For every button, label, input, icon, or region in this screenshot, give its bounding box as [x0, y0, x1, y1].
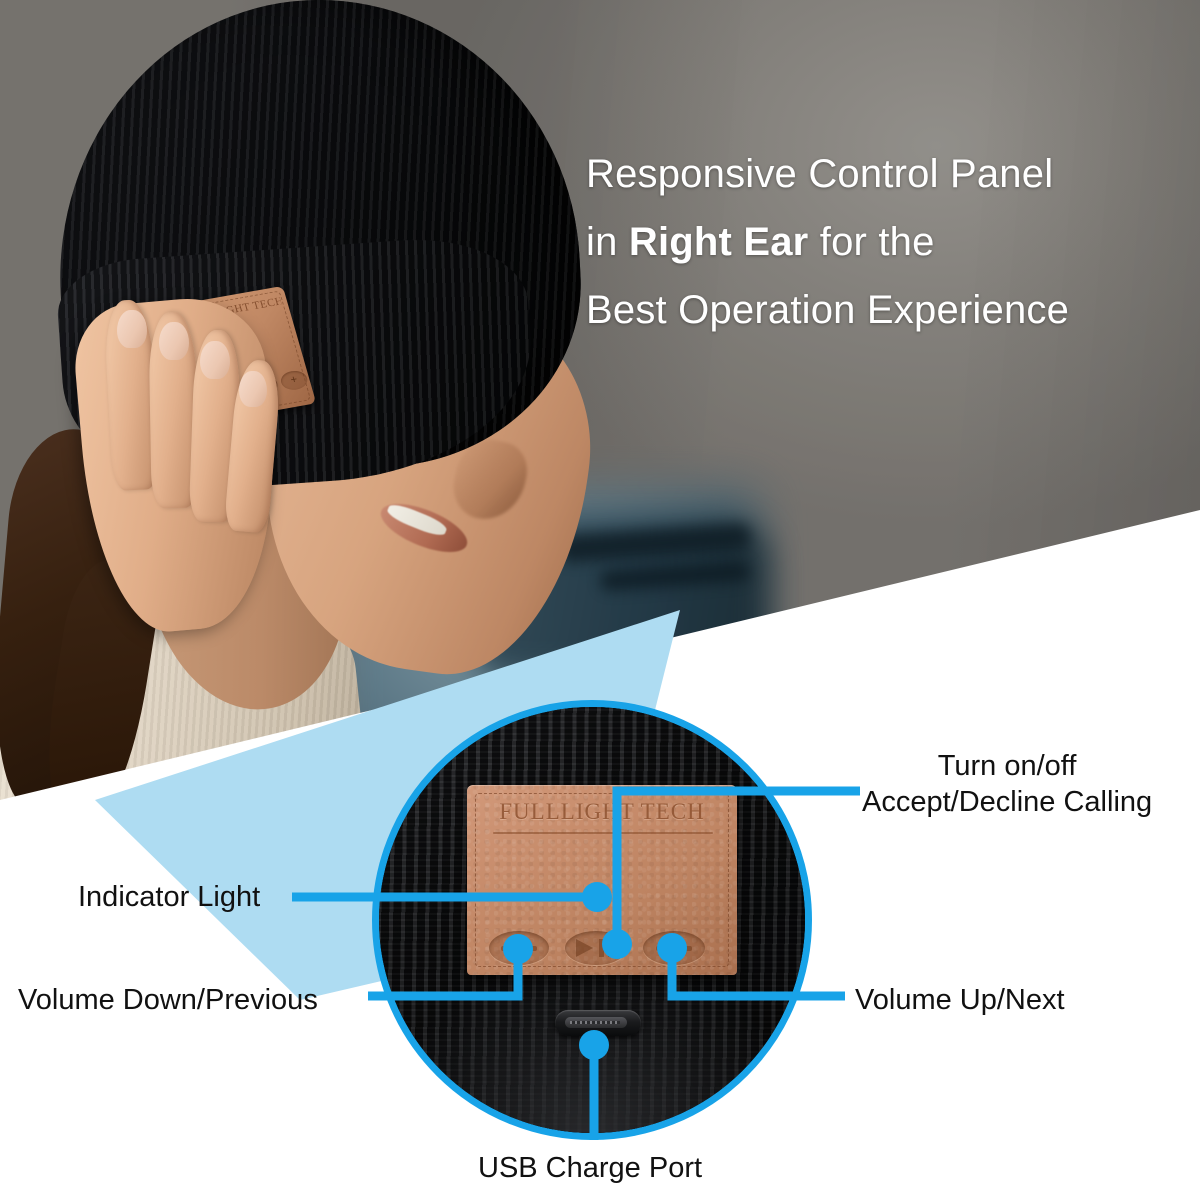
brand-logo-text: FULLLIGHT TECH: [467, 799, 737, 825]
led-indicator: [589, 891, 607, 909]
minus-icon: [501, 946, 537, 951]
headline-line-3: Best Operation Experience: [586, 276, 1186, 344]
headline-line-1: Responsive Control Panel: [586, 140, 1186, 208]
lifestyle-photo: FULLLIGHT TECH ▶ +: [0, 0, 1200, 810]
headline-line-2-pre: in: [586, 220, 629, 264]
model-fingernail: [159, 322, 189, 360]
callout-label-usb-charge-port: USB Charge Port: [478, 1150, 702, 1186]
zoom-circle-control-panel: FULLLIGHT TECH: [372, 700, 812, 1140]
callout-turn-on-off-line-1: Turn on/off: [862, 748, 1152, 784]
plus-button[interactable]: [643, 931, 705, 965]
model-fingernail: [117, 310, 147, 348]
callout-label-turn-on-off: Turn on/off Accept/Decline Calling: [862, 748, 1152, 820]
pause-icon: [599, 939, 604, 957]
play-icon: [576, 939, 593, 957]
pause-icon: [608, 939, 613, 957]
headline-emphasis: Right Ear: [629, 220, 809, 264]
usb-port-opening: [565, 1017, 627, 1028]
callout-label-volume-down: Volume Down/Previous: [18, 982, 318, 1018]
minus-button[interactable]: [489, 931, 549, 965]
headline-text: Responsive Control Panel in Right Ear fo…: [586, 140, 1186, 344]
usb-port[interactable]: [555, 1010, 641, 1036]
callout-turn-on-off-line-2: Accept/Decline Calling: [862, 784, 1152, 820]
callout-label-volume-up: Volume Up/Next: [855, 982, 1065, 1018]
infographic-canvas: FULLLIGHT TECH ▶ + Responsive Control Pa…: [0, 0, 1200, 1200]
play-pause-button[interactable]: [565, 931, 627, 965]
plus-icon: [671, 938, 676, 959]
beanie-fleece-lining: [379, 953, 805, 1133]
headline-line-2: in Right Ear for the: [586, 208, 1186, 276]
leather-control-patch: FULLLIGHT TECH: [467, 785, 737, 975]
headline-line-2-post: for the: [808, 220, 934, 264]
model-fingernail: [239, 371, 267, 407]
callout-label-indicator-light: Indicator Light: [78, 879, 260, 915]
brand-logo-underline: [493, 832, 713, 834]
model-fingernail: [200, 341, 230, 379]
